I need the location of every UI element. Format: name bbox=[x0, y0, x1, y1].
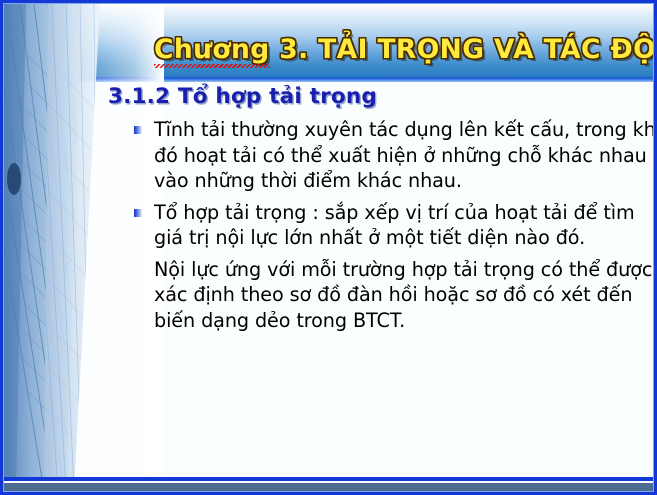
bullet-line: Tĩnh tải thường xuyên tác dụng lên kết c… bbox=[154, 117, 650, 143]
title-remainder: 3. TẢI TRỌNG VÀ TÁC ĐỘNG bbox=[270, 34, 653, 65]
slide-title: Chương 3. TẢI TRỌNG VÀ TÁC ĐỘNG bbox=[154, 34, 653, 65]
paragraph-line: xác định theo sơ đồ đàn hồi hoặc sơ đồ c… bbox=[154, 282, 650, 308]
bullet-item: Tĩnh tải thường xuyên tác dụng lên kết c… bbox=[134, 117, 650, 194]
bullet-line: giá trị nội lực lớn nhất ở một tiết diện… bbox=[154, 225, 650, 251]
bullet-line: Tổ hợp tải trọng : sắp xếp vị trí của ho… bbox=[154, 200, 650, 226]
paragraph-line: biến dạng dẻo trong BTCT. bbox=[154, 308, 650, 334]
paragraph-line: Nội lực ứng với mỗi trường hợp tải trọng… bbox=[154, 257, 650, 283]
slide-body: Tĩnh tải thường xuyên tác dụng lên kết c… bbox=[134, 117, 650, 333]
title-spellchecked-word: Chương bbox=[154, 34, 270, 65]
footer-strip bbox=[4, 483, 653, 491]
body-paragraph: Nội lực ứng với mỗi trường hợp tải trọng… bbox=[134, 257, 650, 334]
presentation-slide: Chương 3. TẢI TRỌNG VÀ TÁC ĐỘNG 3.1.2 Tổ… bbox=[0, 0, 657, 495]
slide-canvas: Chương 3. TẢI TRỌNG VÀ TÁC ĐỘNG 3.1.2 Tổ… bbox=[4, 4, 653, 491]
bullet-line: đó hoạt tải có thể xuất hiện ở những chỗ… bbox=[154, 143, 650, 169]
bullet-line: vào những thời điểm khác nhau. bbox=[154, 168, 650, 194]
slide-subtitle: 3.1.2 Tổ hợp tải trọng bbox=[108, 84, 377, 109]
square-bullet-icon bbox=[134, 209, 142, 217]
square-bullet-icon bbox=[134, 126, 142, 134]
bullet-item: Tổ hợp tải trọng : sắp xếp vị trí của ho… bbox=[134, 200, 650, 251]
